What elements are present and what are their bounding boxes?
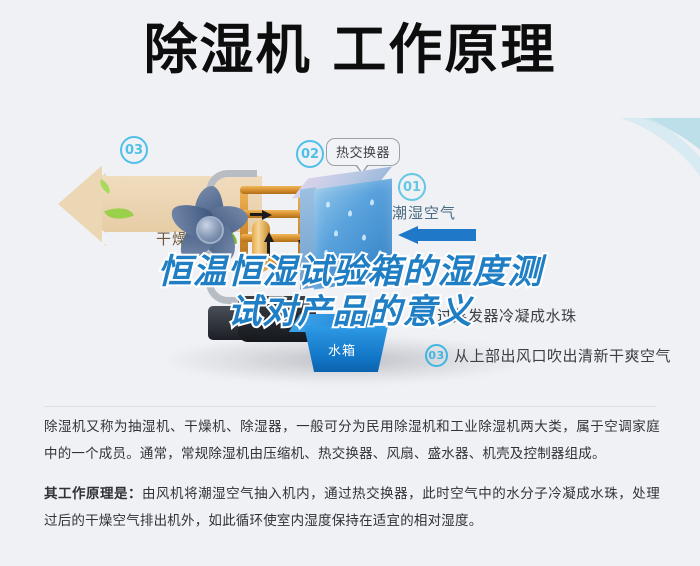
water-droplet-icon (348, 210, 352, 217)
page-title-container: 除湿机 工作原理 (0, 22, 700, 79)
content-divider (44, 406, 656, 407)
heat-exchanger-block (300, 167, 392, 292)
callout-heat-exchanger: 热交换器 (326, 138, 400, 166)
page-title: 除湿机 工作原理 (144, 22, 557, 79)
fan-hub (196, 216, 224, 244)
article-body: 除湿机又称为抽湿机、干燥机、除湿器，一般可分为民用除湿机和工业除湿机两大类，属于… (44, 414, 660, 548)
heat-exchanger-front-face (314, 179, 392, 290)
inlet-arrow-body (416, 229, 476, 241)
page-root: 除湿机 工作原理 干燥空气 03 02 01 热交换器 潮湿空气 (0, 0, 700, 566)
dry-air-arrow-notch-top (102, 162, 120, 176)
water-droplet-icon (342, 261, 346, 268)
water-droplet-icon (378, 250, 382, 257)
water-droplet-icon (334, 230, 338, 237)
inlet-arrow-head (398, 226, 418, 244)
badge-03-dry-air: 03 (120, 136, 148, 164)
fan-assembly (160, 180, 256, 276)
badge-03-outlet: 03 (425, 344, 448, 367)
water-droplet-icon (370, 199, 374, 206)
caption-condensation: 过蒸发器冷凝成水珠 (437, 305, 577, 326)
wet-air-label: 潮湿空气 (392, 202, 456, 223)
badge-02-heat-exchanger: 02 (296, 140, 324, 168)
water-droplet-icon (326, 201, 330, 208)
caption-outlet-text: 从上部出风口吹出清新干爽空气 (454, 345, 671, 366)
body-paragraph-2-lead: 其工作原理是： (44, 486, 142, 502)
water-tank-label: 水箱 (328, 340, 356, 359)
body-paragraph-2: 其工作原理是：由风机将潮湿空气抽入机内，通过热交换器，此时空气中的水分子冷凝成水… (44, 481, 660, 535)
wet-air-inlet-arrow (398, 226, 476, 244)
water-droplet-icon (324, 250, 328, 257)
water-droplet-icon (362, 234, 366, 241)
dry-air-arrow-head (58, 162, 106, 246)
flow-arrow-stem (267, 242, 270, 256)
badge-01-wet-air: 01 (398, 173, 426, 201)
water-tank: 水箱 (300, 314, 392, 376)
dry-air-arrow-notch-bottom (102, 230, 120, 244)
body-paragraph-1: 除湿机又称为抽湿机、干燥机、除湿器，一般可分为民用除湿机和工业除湿机两大类，属于… (44, 414, 660, 468)
caption-outlet: 03 从上部出风口吹出清新干爽空气 (425, 344, 671, 367)
flow-arrow-up-icon (264, 232, 274, 242)
